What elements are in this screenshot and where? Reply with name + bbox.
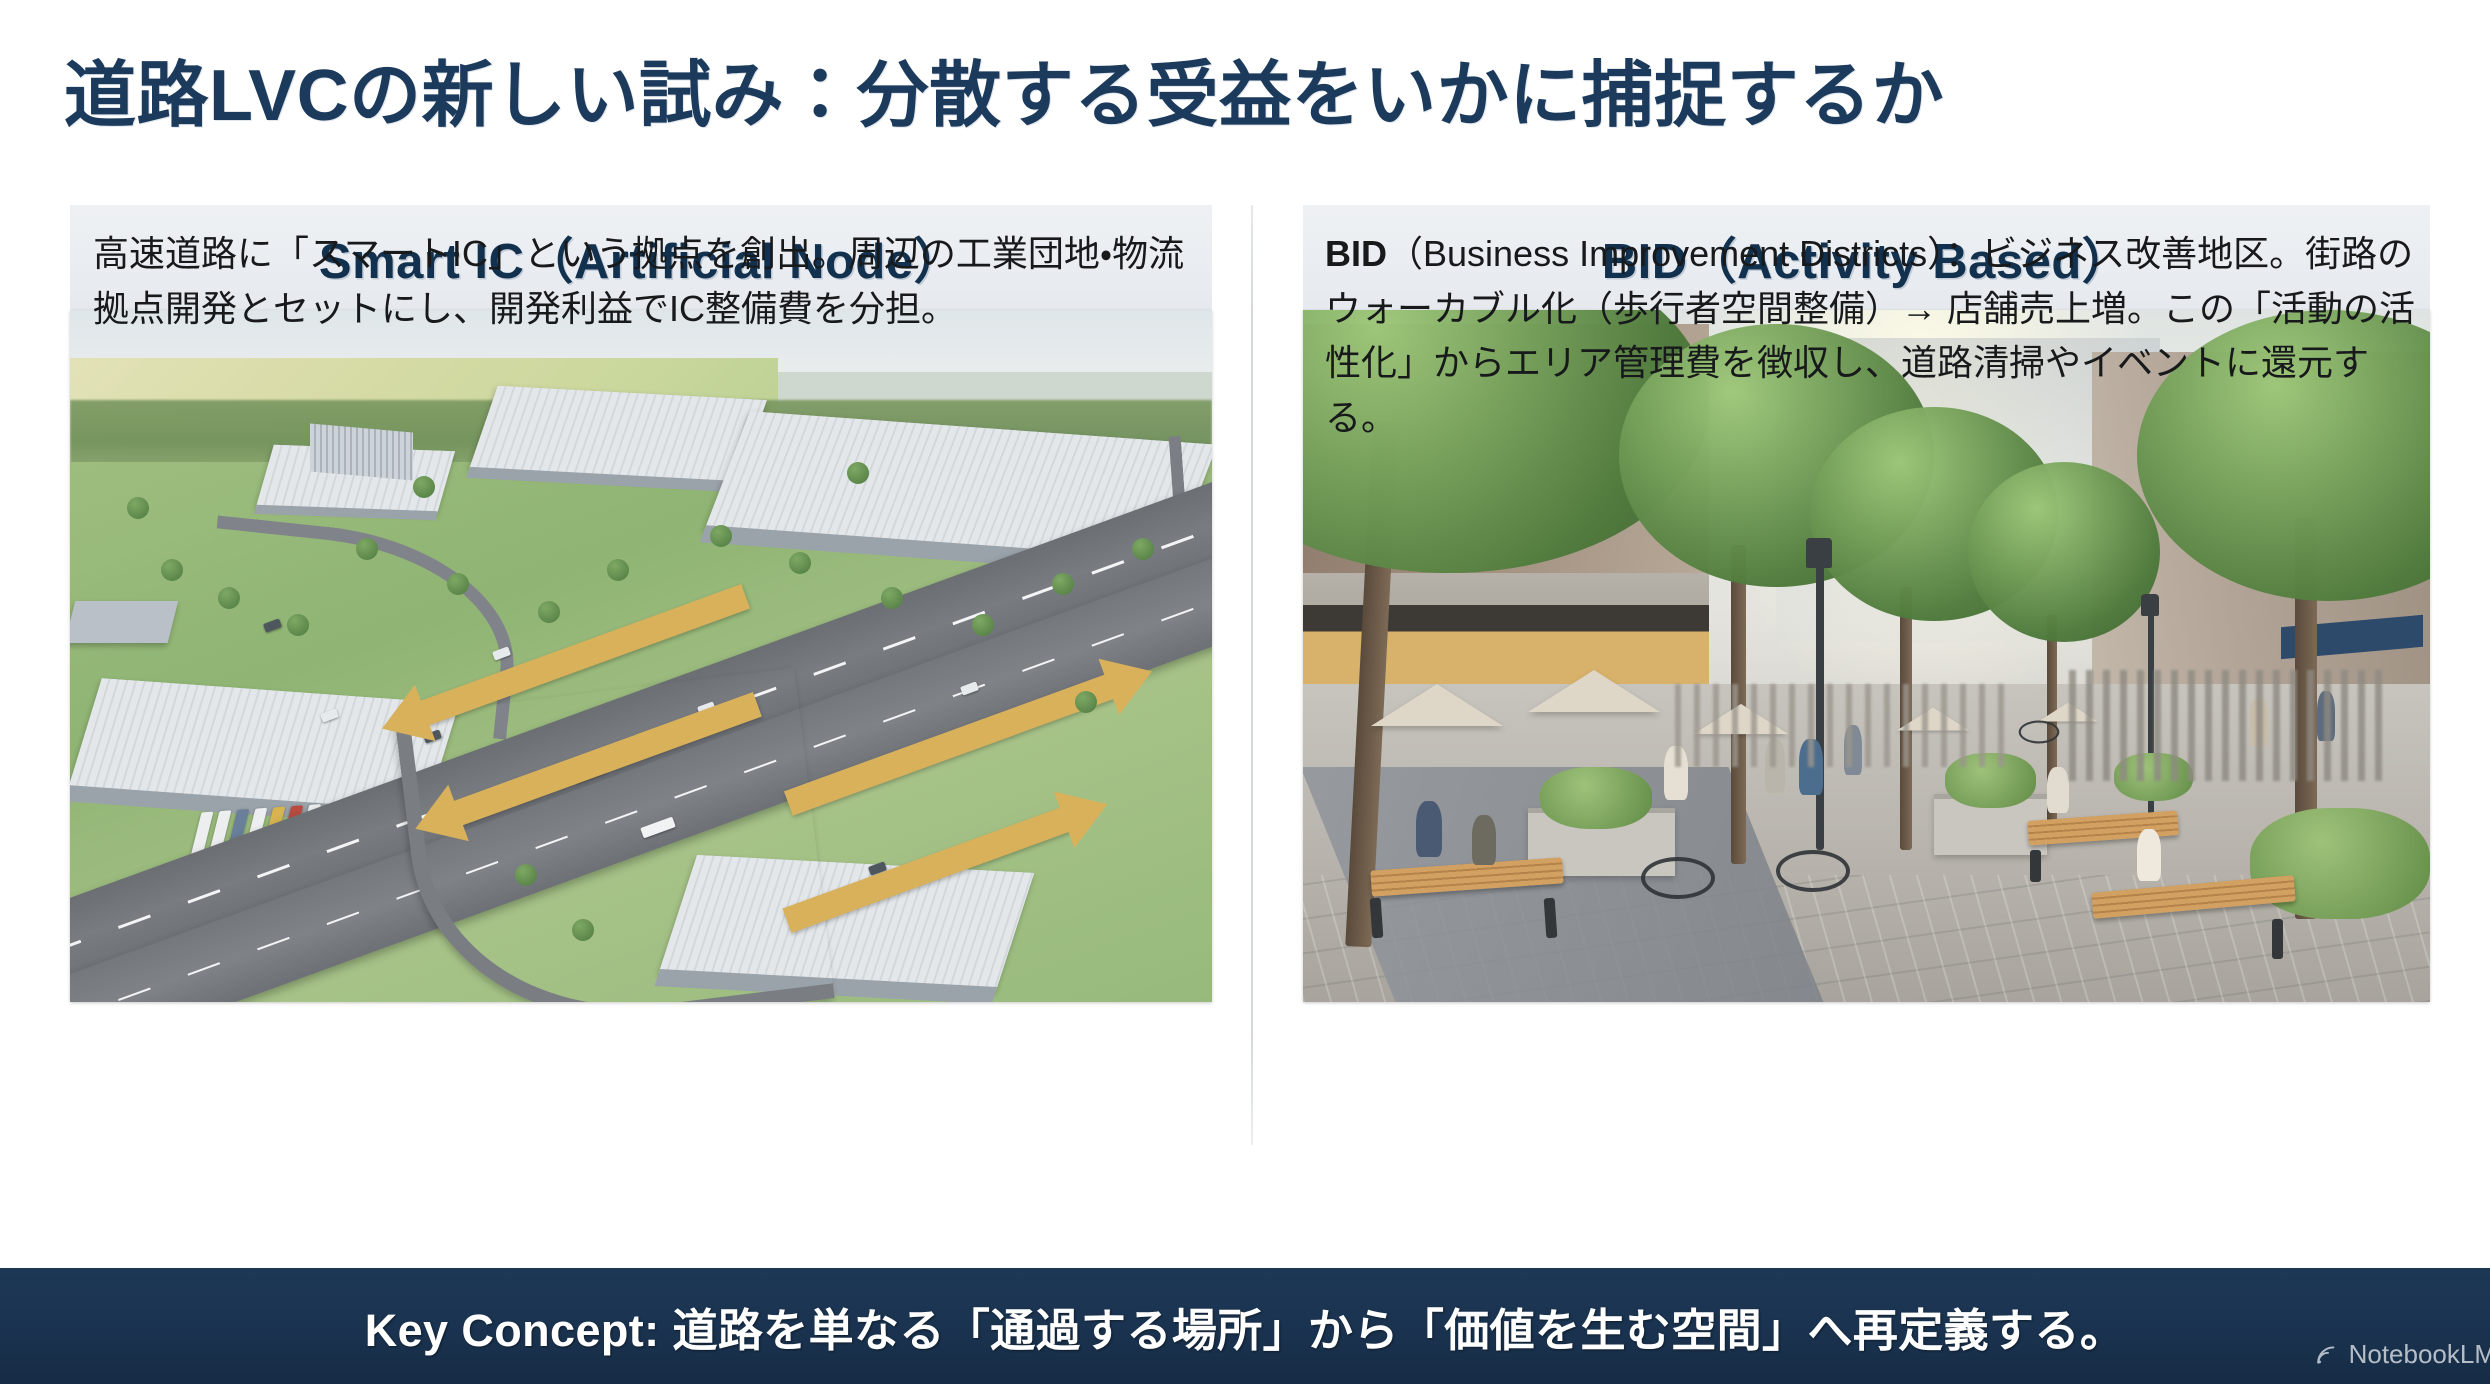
bicycle — [1776, 850, 1850, 892]
warehouse-building — [70, 601, 178, 643]
seated-person — [2137, 829, 2161, 881]
key-concept-text: Key Concept: 道路を単なる「通過する場所」から「価値を生む空間」へ再… — [365, 1294, 2126, 1359]
cafe-umbrella — [1528, 670, 1660, 712]
bicycle — [1641, 857, 1715, 899]
caption-bid: BID（Business Improvement Districts）：ビジネス… — [1325, 227, 2425, 446]
notebooklm-watermark-label: NotebookLM — [2349, 1339, 2490, 1370]
slide-root: 道路LVCの新しい試み：分散する受益をいかに捕捉するか Smart IC（Art… — [0, 0, 2490, 1384]
bench-leg — [2030, 850, 2041, 882]
notebooklm-spark-icon — [2315, 1342, 2341, 1368]
page-title: 道路LVCの新しい試み：分散する受益をいかに捕捉するか — [64, 36, 1944, 141]
street-tree — [1968, 462, 2160, 642]
caption-bid-body: （Business Improvement Districts）：ビジネス改善地… — [1325, 233, 2415, 438]
key-concept-bar: Key Concept: 道路を単なる「通過する場所」から「価値を生む空間」へ再… — [0, 1268, 2490, 1384]
caption-smart-ic: 高速道路に「スマートIC」という拠点を創出。周辺の工業団地・物流拠点開発とセット… — [93, 227, 1191, 336]
bench-leg — [2272, 919, 2283, 959]
warehouse-building — [469, 386, 767, 483]
seated-person — [2047, 767, 2069, 813]
notebooklm-watermark: NotebookLM — [2315, 1339, 2490, 1370]
comparison-columns: Smart IC（Artificial Node） — [0, 205, 2490, 1255]
factory-stacks — [310, 423, 413, 480]
panel-smart-ic: Smart IC（Artificial Node） — [70, 205, 1212, 1002]
distant-crowd — [1675, 684, 2013, 767]
aerial-logistics-scene — [70, 310, 1212, 1002]
illustration-smart-ic — [70, 310, 1212, 1002]
distant-crowd — [2069, 670, 2385, 781]
seated-person — [1472, 815, 1496, 865]
planter-shrub — [1540, 767, 1653, 829]
street-lamp-head — [1806, 538, 1832, 568]
bench-leg — [1369, 898, 1383, 939]
street-lamp-head — [2141, 594, 2159, 616]
caption-bid-lead: BID — [1325, 233, 1387, 274]
cafe-umbrella — [1371, 684, 1503, 726]
seated-person — [1416, 801, 1442, 857]
panel-bid: BID（Activity Based） — [1303, 205, 2430, 1002]
